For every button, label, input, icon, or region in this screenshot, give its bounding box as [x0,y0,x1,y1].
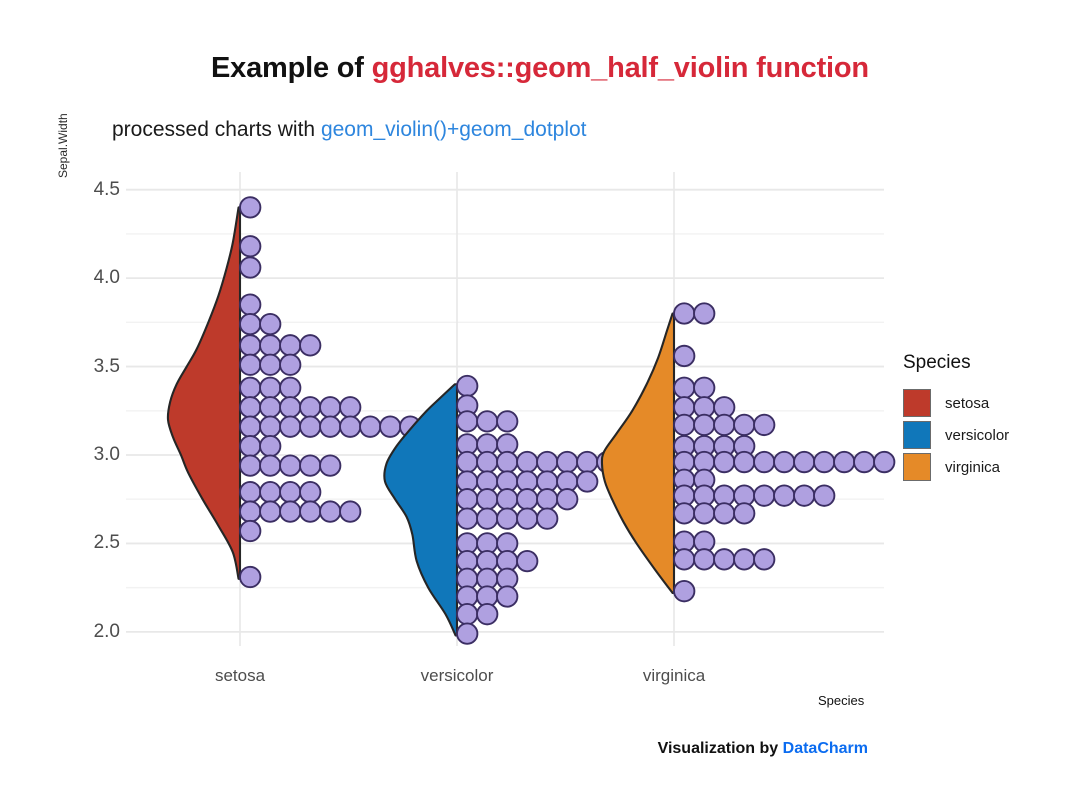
dot-versicolor [477,604,497,624]
dot-versicolor [517,551,537,571]
dot-virginica [694,378,714,398]
dot-setosa [380,416,400,436]
dot-setosa [280,378,300,398]
legend-label-versicolor: versicolor [945,427,1009,444]
dot-versicolor [477,508,497,528]
dot-setosa [240,197,260,217]
caption-brand: DataCharm [783,740,868,757]
dot-versicolor [557,452,577,472]
dot-setosa [300,397,320,417]
dot-setosa [300,501,320,521]
dot-setosa [240,567,260,587]
dot-virginica [714,452,734,472]
dot-virginica [874,452,894,472]
caption-prefix: Visualization by [658,740,783,757]
legend-item-versicolor[interactable]: versicolor [903,419,1009,451]
y-tick-label: 4.5 [94,179,120,201]
legend-item-virginica[interactable]: virginica [903,451,1009,483]
dot-versicolor [557,489,577,509]
dot-virginica [674,415,694,435]
dot-setosa [240,314,260,334]
dot-setosa [320,501,340,521]
dot-setosa [280,335,300,355]
dot-setosa [260,397,280,417]
x-tick-label-setosa: setosa [215,666,265,686]
dot-virginica [734,549,754,569]
dot-virginica [694,303,714,323]
dot-setosa [240,521,260,541]
legend-items: setosaversicolorvirginica [903,387,1009,483]
x-tick-label-versicolor: versicolor [421,666,494,686]
dot-versicolor [457,489,477,509]
dot-setosa [260,335,280,355]
dot-setosa [300,482,320,502]
legend: Species setosaversicolorvirginica [903,352,1009,483]
dot-setosa [260,436,280,456]
dot-virginica [734,503,754,523]
dot-versicolor [497,489,517,509]
dot-setosa [280,397,300,417]
dot-setosa [320,397,340,417]
dot-setosa [320,416,340,436]
dot-virginica [794,485,814,505]
dot-versicolor [457,452,477,472]
dot-virginica [694,549,714,569]
dot-virginica [674,503,694,523]
dot-setosa [280,501,300,521]
chart-page: Example of gghalves::geom_half_violin fu… [0,0,1080,810]
dot-virginica [674,303,694,323]
dot-setosa [320,455,340,475]
legend-swatch-virginica [903,453,931,481]
dot-setosa [240,397,260,417]
dot-versicolor [517,489,537,509]
dot-setosa [240,416,260,436]
y-tick-label: 2.0 [94,621,120,643]
y-tick-label: 3.0 [94,444,120,466]
dot-setosa [300,335,320,355]
x-axis-title: Species [818,693,864,708]
dot-setosa [280,355,300,375]
dot-virginica [674,346,694,366]
dot-versicolor [537,452,557,472]
dot-virginica [674,581,694,601]
dot-setosa [240,335,260,355]
dot-setosa [240,436,260,456]
dot-virginica [834,452,854,472]
dot-virginica [694,415,714,435]
dot-virginica [714,503,734,523]
dot-setosa [280,482,300,502]
dot-versicolor [477,452,497,472]
dot-virginica [794,452,814,472]
dot-setosa [240,482,260,502]
dot-setosa [260,416,280,436]
dot-versicolor [537,508,557,528]
legend-item-setosa[interactable]: setosa [903,387,1009,419]
dot-virginica [694,503,714,523]
dot-virginica [734,452,754,472]
dot-setosa [260,355,280,375]
legend-title: Species [903,352,1009,374]
dot-setosa [300,455,320,475]
dot-versicolor [457,376,477,396]
y-axis-ticks: 2.02.53.03.54.04.5 [72,0,120,810]
dot-versicolor [577,471,597,491]
y-tick-label: 4.0 [94,267,120,289]
dot-versicolor [497,508,517,528]
dot-setosa [260,501,280,521]
dot-virginica [814,485,834,505]
dot-setosa [260,482,280,502]
dot-versicolor [497,586,517,606]
dot-setosa [240,378,260,398]
dot-setosa [240,501,260,521]
legend-swatch-setosa [903,389,931,417]
dot-versicolor [457,623,477,643]
dot-versicolor [457,508,477,528]
dot-versicolor [477,411,497,431]
legend-label-virginica: virginica [945,459,1000,476]
dot-virginica [734,415,754,435]
dot-setosa [240,455,260,475]
dot-versicolor [537,489,557,509]
dot-setosa [260,378,280,398]
dot-virginica [754,549,774,569]
legend-swatch-versicolor [903,421,931,449]
dot-versicolor [497,452,517,472]
dot-virginica [774,485,794,505]
dot-versicolor [577,452,597,472]
dot-setosa [340,501,360,521]
dot-setosa [260,455,280,475]
dot-setosa [240,236,260,256]
caption: Visualization by DataCharm [658,740,868,758]
dot-virginica [854,452,874,472]
legend-label-setosa: setosa [945,395,989,412]
dot-virginica [754,415,774,435]
dot-virginica [714,415,734,435]
dot-virginica [674,549,694,569]
y-tick-label: 2.5 [94,532,120,554]
dot-virginica [714,549,734,569]
dot-versicolor [457,411,477,431]
dot-setosa [340,397,360,417]
dot-versicolor [477,489,497,509]
dot-versicolor [517,508,537,528]
dot-setosa [280,416,300,436]
dot-virginica [814,452,834,472]
dot-virginica [754,452,774,472]
y-tick-label: 3.5 [94,356,120,378]
dot-setosa [280,455,300,475]
dot-setosa [240,294,260,314]
dot-virginica [754,485,774,505]
dot-versicolor [457,604,477,624]
y-axis-title: Sepal.Width [56,113,70,178]
dot-virginica [674,378,694,398]
dot-setosa [300,416,320,436]
dot-setosa [340,416,360,436]
x-tick-label-virginica: virginica [643,666,705,686]
dot-setosa [240,355,260,375]
dot-virginica [774,452,794,472]
dot-versicolor [517,452,537,472]
dot-versicolor [497,411,517,431]
dot-setosa [260,314,280,334]
dot-setosa [360,416,380,436]
dot-setosa [240,257,260,277]
